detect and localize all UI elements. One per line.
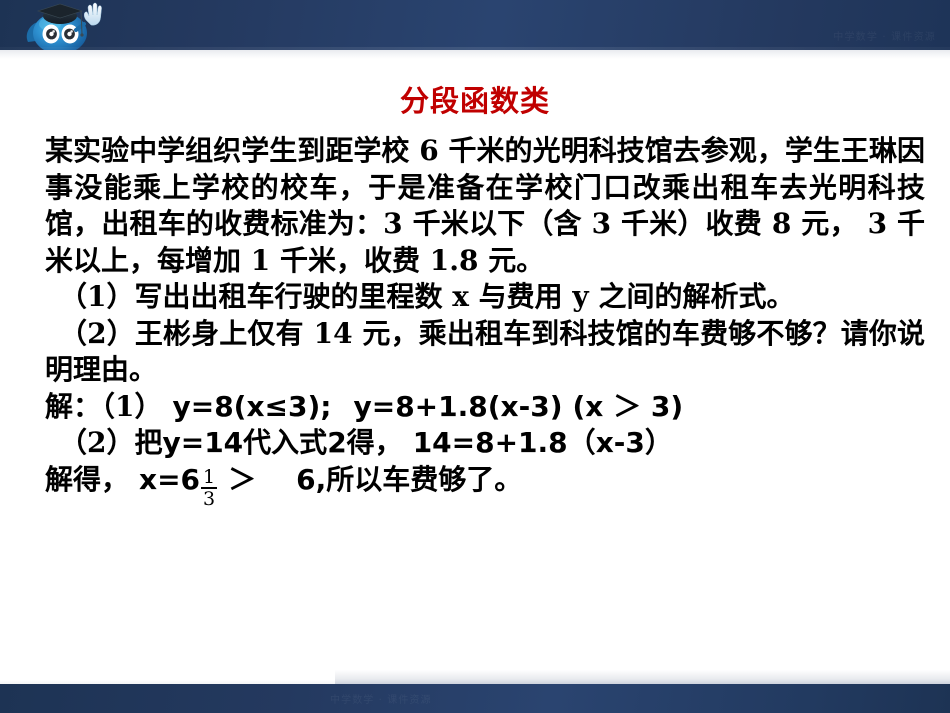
answer-3: 解得，x=613＞6,所以车费够了。 xyxy=(45,462,925,509)
fraction-denominator: 3 xyxy=(201,489,217,509)
answer-2: （2）把y=14代入式2得，14=8+1.8（x-3） xyxy=(45,425,925,462)
answer-1-expr-c: (x ＞ 3) xyxy=(573,390,684,423)
answer-1-prefix: 解：（1） xyxy=(45,390,162,423)
question-2: （2）王彬身上仅有 14 元，乘出租车到科技馆的车费够不够？请你说明理由。 xyxy=(45,316,925,389)
footer-sheen-divider xyxy=(0,662,950,684)
header-watermark: 中学数学 · 课件资源 xyxy=(833,28,936,43)
footer-watermark: 中学数学 · 课件资源 xyxy=(330,691,432,706)
answer-3-greater-than: ＞ xyxy=(228,463,256,496)
answer-3-six: 6, xyxy=(296,463,326,496)
footer-band: 中学数学 · 课件资源 xyxy=(0,684,950,713)
page-title: 分段函数类 xyxy=(0,86,950,116)
answer-3-tail: 所以车费够了。 xyxy=(326,463,522,496)
answer-2-y-value: y=14 xyxy=(162,426,243,459)
header-sheen-divider xyxy=(0,50,950,59)
answer-3-prefix: 解得， xyxy=(45,463,129,496)
answer-1-expr-b: y=8+1.8(x-3) xyxy=(353,390,562,423)
answer-2-get-text: 得， xyxy=(347,426,403,459)
answer-2-equation-number: 2 xyxy=(327,426,346,459)
problem-statement: 某实验中学组织学生到距学校 6 千米的光明科技馆去参观，学生王琳因事没能乘上学校… xyxy=(45,133,925,279)
answer-2-substitute-text: 代入式 xyxy=(243,426,327,459)
header-band: 中学数学 · 课件资源 xyxy=(0,0,950,50)
mascot-icon xyxy=(22,0,114,50)
answer-2-paren-close: ） xyxy=(645,426,673,459)
answer-3-x-value: x=6 xyxy=(139,463,200,496)
answer-2-expr: 14=8+1.8 xyxy=(413,426,568,459)
answer-2-prefix: （2）把 xyxy=(59,426,162,459)
answer-2-paren-open: （ xyxy=(568,426,596,459)
question-1: （1）写出出租车行驶的里程数 x 与费用 y 之间的解析式。 xyxy=(45,279,925,316)
fraction-numerator: 1 xyxy=(201,468,217,489)
answer-1-expr-a: y=8(x≤3); xyxy=(172,390,331,423)
answer-2-var: x-3 xyxy=(596,426,645,459)
slide-body: 某实验中学组织学生到距学校 6 千米的光明科技馆去参观，学生王琳因事没能乘上学校… xyxy=(45,133,925,509)
answer-1: 解：（1）y=8(x≤3);y=8+1.8(x-3)(x ＞ 3) xyxy=(45,389,925,426)
fraction-one-third: 13 xyxy=(201,468,217,509)
